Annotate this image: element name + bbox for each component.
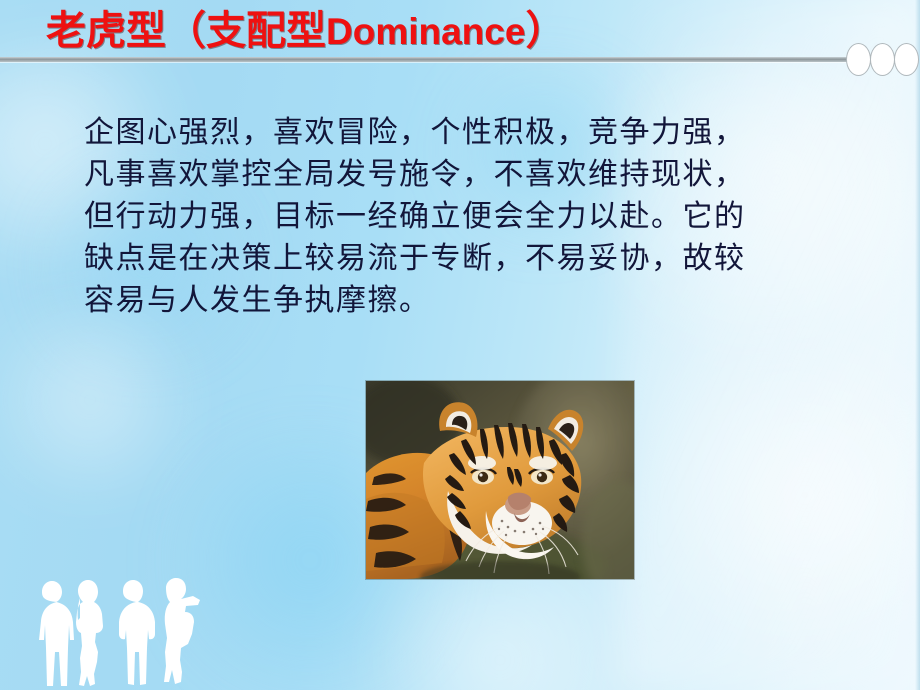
divider-dot-icon (894, 43, 919, 76)
divider-dots-group (846, 43, 920, 77)
background-right-edge (915, 0, 920, 690)
tiger-photo (366, 381, 634, 579)
slide-title-cjk-prefix: 老虎型（支配型 (46, 8, 326, 53)
slide-title: 老虎型（支配型Dominance） (46, 6, 565, 57)
slide-canvas: 老虎型（支配型Dominance） 企图心强烈，喜欢冒险，个性积极，竞争力强， … (0, 0, 920, 690)
background-sheen (620, 0, 920, 690)
people-silhouettes-decoration (18, 578, 203, 690)
body-paragraph: 企图心强烈，喜欢冒险，个性积极，竞争力强， 凡事喜欢掌控全局发号施令，不喜欢维持… (84, 112, 874, 322)
slide-title-cjk-suffix: ） (525, 8, 565, 53)
divider-dot-icon (870, 43, 895, 76)
title-divider-line (0, 57, 872, 62)
slide-title-latin: Dominance (326, 11, 525, 52)
divider-dot-icon (846, 43, 871, 76)
